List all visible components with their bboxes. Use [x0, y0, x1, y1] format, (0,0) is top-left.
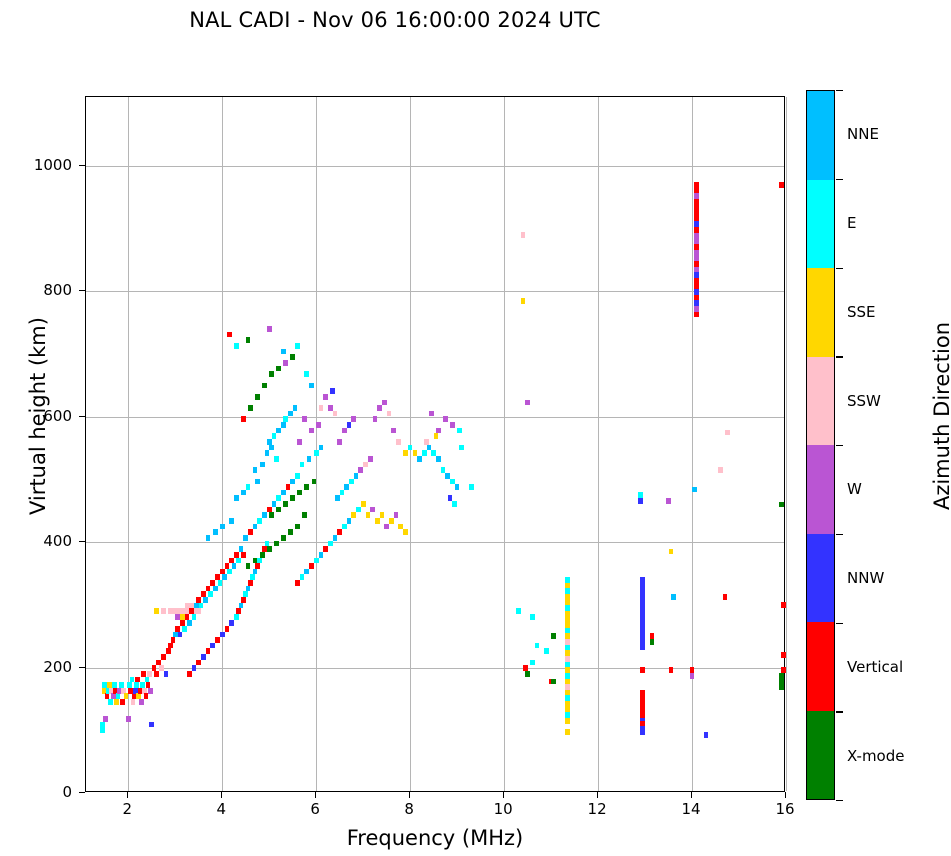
y-tick-800	[79, 290, 85, 291]
x-tick-2	[127, 792, 128, 798]
data-point	[288, 411, 293, 417]
data-point	[530, 660, 535, 666]
data-point	[262, 383, 267, 389]
data-point	[253, 524, 258, 530]
data-point	[455, 484, 460, 490]
x-tick-16	[785, 792, 786, 798]
data-point	[276, 428, 281, 434]
data-point	[723, 594, 728, 600]
colorbar-band-vertical[interactable]	[807, 622, 834, 711]
data-point	[108, 699, 113, 705]
colorbar-label-x-mode: X-mode	[847, 747, 904, 765]
data-point	[347, 422, 352, 428]
data-point	[781, 602, 786, 608]
data-point	[283, 501, 288, 507]
data-point	[274, 456, 279, 462]
data-point	[335, 495, 340, 501]
data-point	[283, 360, 288, 366]
colorbar-label-e: E	[847, 214, 856, 232]
data-point	[262, 512, 267, 518]
x-tick-4	[221, 792, 222, 798]
data-point	[309, 563, 314, 569]
data-point	[103, 716, 108, 722]
data-point	[136, 693, 141, 699]
colorbar-band-ssw[interactable]	[807, 357, 834, 446]
data-point	[232, 563, 237, 569]
data-point	[161, 608, 166, 614]
data-point	[201, 654, 206, 660]
data-point	[403, 450, 408, 456]
data-point	[544, 648, 549, 654]
data-point	[377, 405, 382, 411]
gridline-vertical-16	[786, 97, 787, 791]
data-point	[206, 535, 211, 541]
data-point	[450, 422, 455, 428]
data-point	[220, 632, 225, 638]
data-point	[269, 512, 274, 518]
data-point	[243, 591, 248, 597]
data-point	[516, 608, 521, 614]
data-point	[669, 549, 674, 555]
data-point	[333, 411, 338, 417]
data-point	[293, 405, 298, 411]
data-point	[248, 580, 253, 586]
data-point	[344, 484, 349, 490]
data-point	[304, 371, 309, 377]
colorbar[interactable]	[806, 90, 835, 800]
data-point	[120, 699, 125, 705]
data-point	[422, 450, 427, 456]
data-point	[243, 535, 248, 541]
data-point	[551, 633, 556, 639]
data-point	[638, 498, 643, 504]
ionogram-figure: NAL CADI - Nov 06 16:00:00 2024 UTC 2468…	[0, 0, 951, 856]
data-point	[213, 529, 218, 535]
data-point	[375, 518, 380, 524]
data-point	[187, 671, 192, 677]
data-point	[356, 507, 361, 513]
data-point	[267, 326, 272, 332]
data-point	[302, 512, 307, 518]
colorbar-label-sse: SSE	[847, 303, 876, 321]
data-point	[319, 445, 324, 451]
data-point	[347, 518, 352, 524]
data-point	[272, 433, 277, 439]
y-tick-label-1000: 1000	[0, 156, 72, 174]
data-point	[116, 693, 121, 699]
data-point	[323, 546, 328, 552]
data-point	[241, 490, 246, 496]
data-point	[368, 456, 373, 462]
x-tick-6	[315, 792, 316, 798]
x-tick-label-2: 2	[97, 800, 157, 818]
data-point	[521, 232, 526, 238]
data-point	[281, 535, 286, 541]
data-point	[330, 388, 335, 394]
data-point	[690, 673, 695, 679]
data-point	[168, 643, 173, 649]
data-point	[276, 366, 281, 372]
data-point	[281, 422, 286, 428]
colorbar-label-nnw: NNW	[847, 569, 884, 587]
data-point	[241, 552, 246, 558]
data-point	[269, 445, 274, 451]
data-point	[640, 667, 645, 673]
data-point	[429, 411, 434, 417]
x-tick-10	[503, 792, 504, 798]
x-tick-label-4: 4	[191, 800, 251, 818]
data-point	[255, 563, 260, 569]
colorbar-tick-1	[836, 179, 843, 180]
data-point	[144, 693, 149, 699]
x-tick-label-10: 10	[473, 800, 533, 818]
data-point	[171, 637, 176, 643]
colorbar-tick-0	[836, 90, 843, 91]
data-point	[246, 337, 251, 343]
x-tick-label-14: 14	[661, 800, 721, 818]
colorbar-label-ssw: SSW	[847, 392, 881, 410]
data-point	[725, 430, 730, 436]
y-tick-0	[79, 792, 85, 793]
data-point	[354, 473, 359, 479]
data-point	[100, 722, 105, 728]
page-title: NAL CADI - Nov 06 16:00:00 2024 UTC	[0, 8, 790, 32]
data-point	[286, 484, 291, 490]
data-point	[246, 563, 251, 569]
colorbar-tick-2	[836, 268, 843, 269]
data-point	[283, 416, 288, 422]
x-tick-12	[597, 792, 598, 798]
data-point	[309, 428, 314, 434]
data-point	[192, 665, 197, 671]
data-point	[300, 462, 305, 468]
data-point	[154, 608, 159, 614]
data-point	[525, 671, 530, 677]
data-point	[535, 643, 540, 649]
data-point	[779, 502, 784, 508]
data-point	[295, 343, 300, 349]
data-point	[236, 608, 241, 614]
data-point	[300, 574, 305, 580]
data-point	[363, 462, 368, 468]
data-point	[650, 639, 655, 645]
data-point	[319, 405, 324, 411]
colorbar-label-vertical: Vertical	[847, 658, 903, 676]
data-point	[260, 552, 265, 558]
data-point	[403, 529, 408, 535]
data-point	[394, 512, 399, 518]
data-point	[248, 529, 253, 535]
data-point	[351, 416, 356, 422]
data-point	[443, 416, 448, 422]
data-point	[260, 462, 265, 468]
data-point	[220, 524, 225, 530]
data-point	[781, 667, 786, 673]
data-point	[669, 667, 674, 673]
data-point	[565, 718, 570, 724]
data-point	[239, 603, 244, 609]
x-tick-label-12: 12	[567, 800, 627, 818]
data-point	[147, 671, 152, 677]
data-point	[312, 479, 317, 485]
data-point	[126, 716, 131, 722]
data-point	[222, 574, 227, 580]
data-point	[694, 312, 699, 318]
data-point	[337, 439, 342, 445]
colorbar-title: Azimuth Direction	[930, 256, 951, 576]
data-point	[241, 416, 246, 422]
data-point	[295, 580, 300, 586]
data-point	[218, 580, 223, 586]
data-point	[257, 518, 262, 524]
data-point	[208, 591, 213, 597]
data-point	[718, 467, 723, 473]
data-point	[382, 400, 387, 406]
data-point	[182, 626, 187, 632]
data-point	[234, 614, 239, 620]
data-point	[203, 597, 208, 603]
data-point	[236, 558, 241, 564]
data-point	[131, 699, 136, 705]
data-point	[253, 467, 258, 473]
data-point	[288, 529, 293, 535]
data-point	[227, 332, 232, 338]
data-point	[274, 541, 279, 547]
data-point	[295, 524, 300, 530]
data-point	[366, 512, 371, 518]
data-point	[185, 614, 190, 620]
scatter-data-layer	[86, 97, 784, 791]
y-tick-1000	[79, 165, 85, 166]
data-point	[779, 684, 784, 690]
data-point	[337, 529, 342, 535]
data-point	[640, 729, 645, 735]
data-point	[227, 569, 232, 575]
data-point	[196, 660, 201, 666]
data-point	[276, 495, 281, 501]
data-point	[302, 416, 307, 422]
data-point	[255, 394, 260, 400]
data-point	[241, 597, 246, 603]
data-point	[290, 495, 295, 501]
x-tick-14	[691, 792, 692, 798]
data-point	[373, 416, 378, 422]
data-point	[206, 648, 211, 654]
data-point	[469, 484, 474, 490]
data-point	[387, 411, 392, 417]
data-point	[246, 586, 251, 592]
data-point	[396, 439, 401, 445]
data-point	[457, 428, 462, 434]
data-point	[196, 608, 201, 614]
colorbar-tick-6	[836, 623, 843, 624]
data-point	[370, 507, 375, 513]
data-point	[417, 456, 422, 462]
data-point	[340, 490, 345, 496]
x-axis-title: Frequency (MHz)	[85, 826, 785, 850]
y-tick-label-200: 200	[0, 658, 72, 676]
data-point	[391, 428, 396, 434]
data-point	[314, 558, 319, 564]
data-point	[328, 405, 333, 411]
x-tick-label-6: 6	[285, 800, 345, 818]
data-point	[114, 699, 119, 705]
data-point	[779, 182, 784, 188]
data-point	[459, 445, 464, 451]
data-point	[139, 699, 144, 705]
data-point	[692, 487, 697, 493]
data-point	[154, 671, 159, 677]
data-point	[229, 620, 234, 626]
data-point	[448, 495, 453, 501]
data-point	[164, 671, 169, 677]
data-point	[213, 586, 218, 592]
data-point	[424, 439, 429, 445]
data-point	[267, 546, 272, 552]
plot-axes	[85, 96, 785, 792]
data-point	[253, 569, 258, 575]
colorbar-band-nnw[interactable]	[807, 534, 834, 623]
data-point	[281, 349, 286, 355]
data-point	[229, 518, 234, 524]
data-point	[161, 654, 166, 660]
data-point	[380, 512, 385, 518]
y-tick-label-0: 0	[0, 783, 72, 801]
data-point	[199, 603, 204, 609]
data-point	[316, 422, 321, 428]
colorbar-band-nne[interactable]	[807, 91, 834, 180]
data-point	[187, 620, 192, 626]
data-point	[257, 558, 262, 564]
data-point	[290, 479, 295, 485]
data-point	[333, 535, 338, 541]
data-point	[255, 479, 260, 485]
data-point	[525, 400, 530, 406]
data-point	[358, 467, 363, 473]
data-point	[704, 732, 709, 738]
colorbar-label-nne: NNE	[847, 125, 879, 143]
data-point	[276, 507, 281, 513]
data-point	[671, 594, 676, 600]
data-point	[297, 490, 302, 496]
y-tick-200	[79, 667, 85, 668]
colorbar-tick-7	[836, 711, 843, 712]
colorbar-tick-4	[836, 445, 843, 446]
data-point	[248, 405, 253, 411]
x-tick-label-16: 16	[755, 800, 815, 818]
data-point	[342, 524, 347, 530]
data-point	[100, 727, 105, 733]
data-point	[349, 479, 354, 485]
data-point	[342, 428, 347, 434]
data-point	[319, 552, 324, 558]
data-point	[234, 343, 239, 349]
colorbar-band-e[interactable]	[807, 180, 834, 269]
data-point	[781, 652, 786, 658]
data-point	[309, 383, 314, 389]
data-point	[265, 450, 270, 456]
data-point	[436, 456, 441, 462]
data-point	[351, 512, 356, 518]
data-point	[434, 433, 439, 439]
data-point	[215, 637, 220, 643]
colorbar-tick-8	[836, 800, 843, 801]
data-point	[234, 495, 239, 501]
data-point	[246, 484, 251, 490]
data-point	[304, 484, 309, 490]
data-point	[304, 569, 309, 575]
x-tick-label-8: 8	[379, 800, 439, 818]
data-point	[361, 501, 366, 507]
data-point	[314, 450, 319, 456]
data-point	[269, 371, 274, 377]
data-point	[105, 693, 110, 699]
y-axis-title: Virtual height (km)	[26, 256, 50, 576]
data-point	[666, 498, 671, 504]
data-point	[297, 439, 302, 445]
data-point	[148, 688, 153, 694]
colorbar-label-w: W	[847, 480, 862, 498]
colorbar-band-w[interactable]	[807, 445, 834, 534]
data-point	[149, 722, 154, 728]
data-point	[166, 648, 171, 654]
colorbar-band-sse[interactable]	[807, 268, 834, 357]
data-point	[225, 626, 230, 632]
data-point	[250, 574, 255, 580]
y-tick-400	[79, 541, 85, 542]
data-point	[551, 679, 556, 685]
y-tick-600	[79, 416, 85, 417]
data-point	[253, 558, 258, 564]
data-point	[323, 394, 328, 400]
data-point	[192, 614, 197, 620]
data-point	[452, 501, 457, 507]
colorbar-tick-3	[836, 356, 843, 357]
data-point	[640, 645, 645, 651]
data-point	[281, 490, 286, 496]
data-point	[178, 632, 183, 638]
data-point	[521, 298, 526, 304]
colorbar-band-x-mode[interactable]	[807, 711, 834, 800]
data-point	[328, 541, 333, 547]
data-point	[384, 524, 389, 530]
data-point	[307, 456, 312, 462]
data-point	[124, 693, 129, 699]
data-point	[210, 643, 215, 649]
data-point	[565, 729, 570, 735]
data-point	[640, 721, 645, 727]
data-point	[530, 614, 535, 620]
data-point	[295, 473, 300, 479]
x-tick-8	[409, 792, 410, 798]
data-point	[389, 518, 394, 524]
colorbar-tick-5	[836, 534, 843, 535]
data-point	[290, 354, 295, 360]
